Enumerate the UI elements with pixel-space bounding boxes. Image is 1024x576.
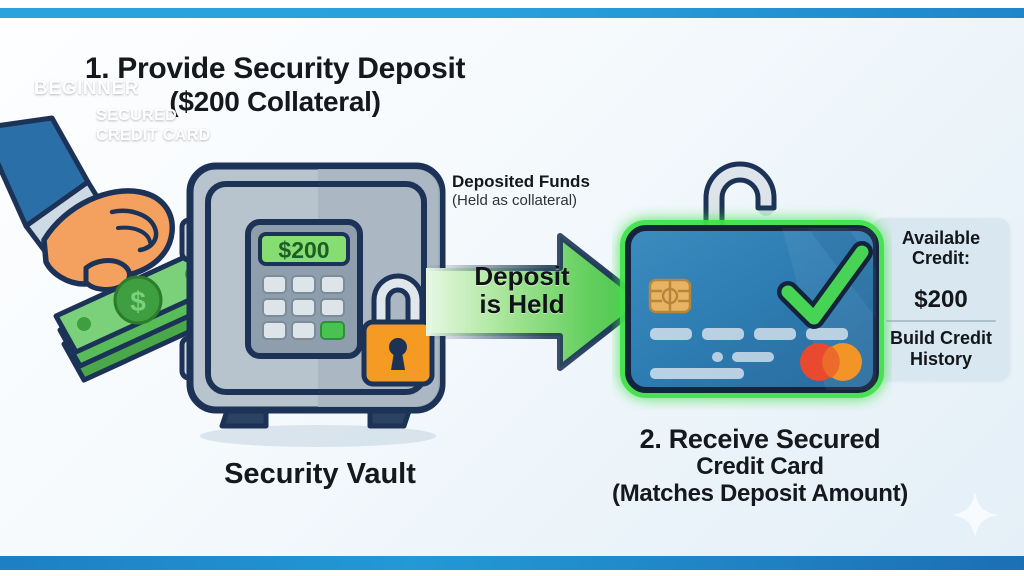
available-credit-line2: Credit: <box>878 248 1004 268</box>
step1-title-line1: 1. Provide Security Deposit <box>85 52 465 85</box>
available-credit-line1: Available <box>878 228 1004 248</box>
card-type-line1: SECURED <box>96 106 211 126</box>
available-credit-amount: $200 <box>878 286 1004 314</box>
vault-display-amount: $200 <box>278 237 329 263</box>
infographic-canvas: 1. Provide Security Deposit ($200 Collat… <box>0 0 1024 576</box>
card-name-bar <box>650 368 744 379</box>
vault-caption: Security Vault <box>155 458 485 491</box>
card-expiry-bars <box>712 352 774 362</box>
flow-label: Deposited Funds (Held as collateral) <box>452 172 632 211</box>
bottom-accent-bar <box>0 556 1024 570</box>
card-type-label: SECURED CREDIT CARD <box>96 106 211 145</box>
benefit-line2: History <box>876 349 1006 370</box>
flow-label-sub: (Held as collateral) <box>452 192 632 211</box>
card-type-line2: CREDIT CARD <box>96 126 211 146</box>
step2-title-line3: (Matches Deposit Amount) <box>560 481 960 508</box>
vault-keypad <box>263 276 344 339</box>
card-brand-label: BEGINNER <box>34 78 139 100</box>
top-accent-bar <box>0 8 1024 18</box>
secured-credit-card <box>612 140 892 410</box>
step2-title-line1: 2. Receive Secured <box>640 424 881 454</box>
benefit-label: Build Credit History <box>876 328 1006 369</box>
vault-key-enter <box>321 322 344 339</box>
arrow-label-line1: Deposit <box>452 262 592 290</box>
benefit-line1: Build Credit <box>876 328 1006 349</box>
arrow-label: Deposit is Held <box>452 262 592 318</box>
mastercard-logo <box>800 343 862 381</box>
arrow-label-line2: is Held <box>452 290 592 318</box>
step2-title-line2: Credit Card <box>560 454 960 481</box>
info-panel-divider <box>886 320 996 322</box>
credit-info-panel: Available Credit: $200 Build Credit Hist… <box>872 218 1010 380</box>
available-credit-label: Available Credit: <box>878 228 1004 268</box>
flow-label-title: Deposited Funds <box>452 172 632 192</box>
step2-title: 2. Receive Secured Credit Card (Matches … <box>560 424 960 508</box>
svg-text:$: $ <box>130 286 146 317</box>
sparkle-icon <box>948 488 1002 542</box>
emv-chip-icon <box>650 280 690 312</box>
